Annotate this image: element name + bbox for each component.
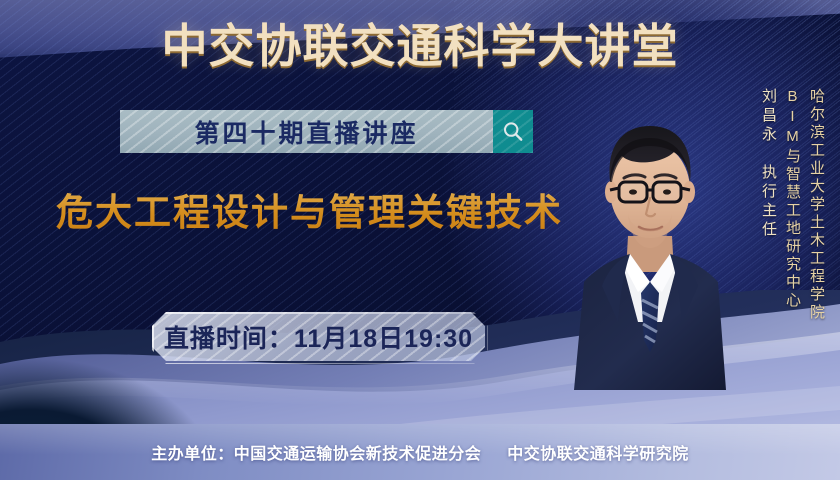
search-icon (501, 120, 525, 144)
session-label: 第四十期直播讲座 (194, 114, 418, 150)
speaker-portrait (566, 86, 734, 390)
speaker-affiliation-school: 哈尔滨工业大学土木工程学院 (802, 88, 826, 322)
speaker-affiliation-center: BIM与智慧工地研究中心 (778, 88, 802, 310)
poster-canvas: 中交协联交通科学大讲堂 第四十期直播讲座 危大工程设计与管理关键技术 直播时间：… (0, 0, 840, 480)
footer-text: 主办单位：中国交通运输协会新技术促进分会中交协联交通科学研究院 (0, 424, 840, 480)
footer-prefix: 主办单位： (151, 440, 234, 464)
live-time-label: 直播时间：11月18日19:30 (164, 319, 473, 355)
speaker-name: 刘昌永 (760, 88, 777, 145)
session-label-bar: 第四十期直播讲座 (120, 110, 493, 153)
speaker-credit-block: 刘昌永 执行主任 BIM与智慧工地研究中心 哈尔滨工业大学土木工程学院 (754, 88, 826, 322)
lecture-headline: 危大工程设计与管理关键技术 (56, 189, 563, 237)
live-time-panel: 直播时间：11月18日19:30 (152, 312, 485, 361)
speaker-name-title: 刘昌永 执行主任 (754, 88, 778, 240)
speaker-title: 执行主任 (760, 164, 777, 240)
search-icon-block[interactable] (493, 110, 533, 153)
footer-org-1: 中国交通运输协会新技术促进分会 (234, 440, 482, 464)
page-title: 中交协联交通科学大讲堂 (0, 18, 840, 74)
footer-org-2: 中交协联交通科学研究院 (507, 440, 689, 464)
session-bar: 第四十期直播讲座 (120, 110, 533, 153)
